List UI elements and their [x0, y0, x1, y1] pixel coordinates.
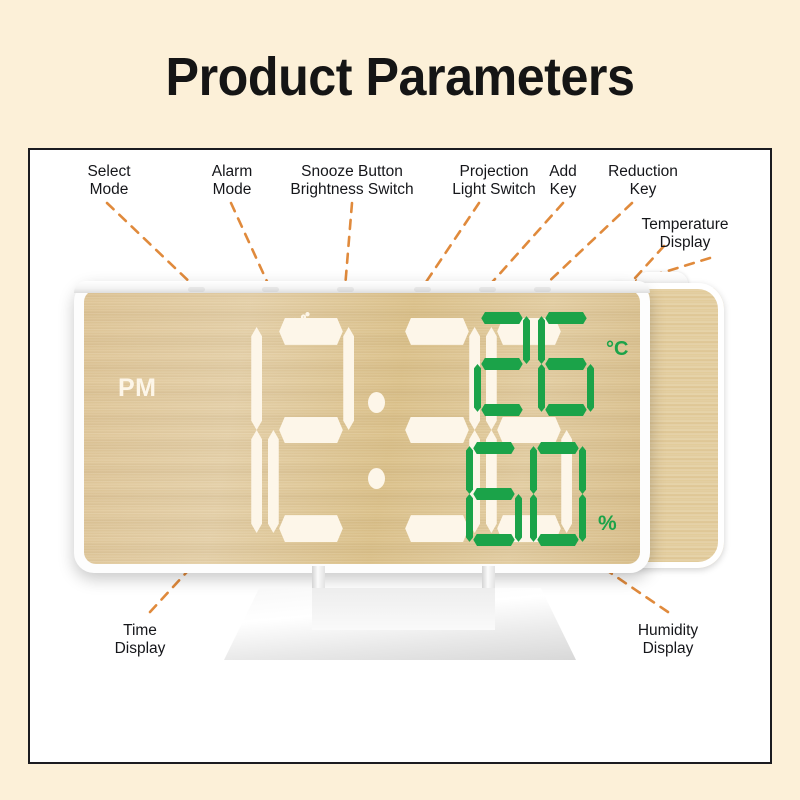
callout-line: Time	[92, 622, 188, 640]
callout-alarm-mode: Alarm Mode	[186, 163, 278, 199]
callout-line: Key	[593, 181, 693, 199]
callout-select-mode: Select Mode	[63, 163, 155, 199]
callout-humidity: Humidity Display	[610, 622, 726, 658]
callout-temperature: Temperature Display	[620, 216, 750, 252]
callout-line: Add	[533, 163, 593, 181]
callout-line: Mode	[63, 181, 155, 199]
callout-line: Reduction	[593, 163, 693, 181]
callout-line: Brightness Switch	[272, 181, 432, 199]
callout-line: Display	[92, 640, 188, 658]
page-title: Product Parameters	[28, 46, 772, 108]
callout-reduction-key: Reduction Key	[593, 163, 693, 199]
callout-line: Key	[533, 181, 593, 199]
callout-line: Snooze Button	[272, 163, 432, 181]
callout-time: Time Display	[92, 622, 188, 658]
callout-line: Humidity	[610, 622, 726, 640]
callout-line: Display	[620, 234, 750, 252]
callout-line: Temperature	[620, 216, 750, 234]
callout-line: Display	[610, 640, 726, 658]
callout-snooze-brightness: Snooze Button Brightness Switch	[272, 163, 432, 199]
callout-line: Alarm	[186, 163, 278, 181]
callout-add-key: Add Key	[533, 163, 593, 199]
callout-line: Mode	[186, 181, 278, 199]
callout-line: Select	[63, 163, 155, 181]
